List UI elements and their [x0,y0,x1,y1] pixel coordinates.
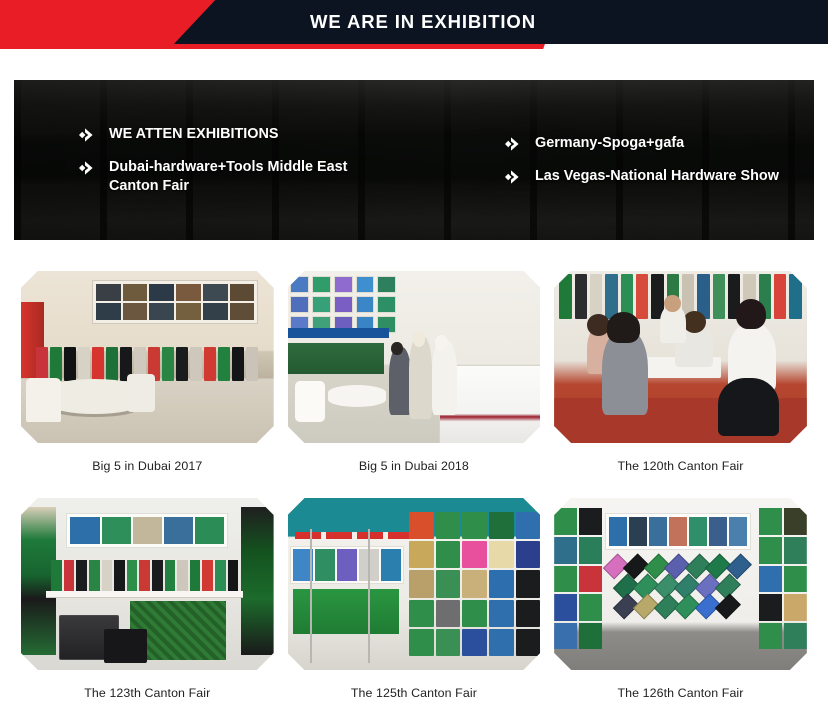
gallery-item[interactable]: The 125th Canton Fair [281,495,548,700]
chevron-diamond-icon [504,136,523,152]
gallery-row-2: The 123th Canton Fair The 125th Canton F… [14,475,814,702]
chevron-diamond-icon [78,160,97,176]
section-header-banner: WE ARE IN EXHIBITION [0,0,828,57]
gallery-row-1: Big 5 in Dubai 2017 [14,268,814,475]
hero-bullet-column-right: Germany-Spoga+gafa Las Vegas-National Ha… [504,134,804,186]
photo-image-canton-fair-125 [288,498,541,670]
exhibition-page: WE ARE IN EXHIBITION WE ATTEN EXHIBITION… [0,0,828,721]
hero-bullet-item: Germany-Spoga+gafa [504,134,804,153]
hero-bullet-item: Dubai-hardware+Tools Middle East Canton … [78,158,498,196]
photo-frame[interactable] [285,495,544,673]
fabric-swatch-row [51,560,238,591]
right-sample-wall [759,508,807,649]
hero-banner: WE ATTEN EXHIBITIONS Dubai-hardware+Tool… [14,80,814,240]
photo-caption: Big 5 in Dubai 2018 [285,446,544,473]
photo-caption: The 120th Canton Fair [551,446,810,473]
hero-bullet-text: Germany-Spoga+gafa [535,134,684,153]
photo-image-canton-fair-126 [554,498,807,670]
photo-frame[interactable] [18,495,277,673]
chevron-diamond-icon [78,127,97,143]
photo-caption: Big 5 in Dubai 2017 [18,446,277,473]
booth-banner [605,513,752,549]
photo-caption: The 126th Canton Fair [551,673,810,700]
photo-caption: The 125th Canton Fair [285,673,544,700]
gallery-item[interactable]: Big 5 in Dubai 2018 [281,268,548,473]
photo-image-canton-fair-123 [21,498,274,670]
photo-frame[interactable] [18,268,277,446]
chevron-diamond-icon [504,169,523,185]
gallery-item[interactable]: The 126th Canton Fair [547,495,814,700]
page-title: WE ARE IN EXHIBITION [0,0,828,44]
photo-frame[interactable] [285,268,544,446]
gallery-item[interactable]: The 123th Canton Fair [14,495,281,700]
hero-bullet-text: WE ATTEN EXHIBITIONS [109,125,279,144]
photo-frame[interactable] [551,268,810,446]
photo-frame[interactable] [551,495,810,673]
product-sample-wall [409,512,540,656]
hero-bullet-column-left: WE ATTEN EXHIBITIONS Dubai-hardware+Tool… [78,125,498,196]
photo-image-canton-fair-120 [554,271,807,443]
gallery-item[interactable]: Big 5 in Dubai 2017 [14,268,281,473]
photo-image-big5-dubai-2018 [288,271,541,443]
hero-bullet-text: Las Vegas-National Hardware Show [535,167,779,186]
left-sample-wall [554,508,602,649]
photo-caption: The 123th Canton Fair [18,673,277,700]
hero-bullet-text: Dubai-hardware+Tools Middle East Canton … [109,158,347,196]
booth-poster-board [92,280,259,325]
booth-poster-board [290,546,404,584]
photo-image-big5-dubai-2017 [21,271,274,443]
booth-poster-wall [290,276,396,333]
diamond-sample-display [605,556,752,625]
booth-banner [66,513,228,547]
hero-bullet-item: Las Vegas-National Hardware Show [504,167,804,186]
hero-bullet-item: WE ATTEN EXHIBITIONS [78,125,498,144]
gallery-item[interactable]: The 120th Canton Fair [547,268,814,473]
